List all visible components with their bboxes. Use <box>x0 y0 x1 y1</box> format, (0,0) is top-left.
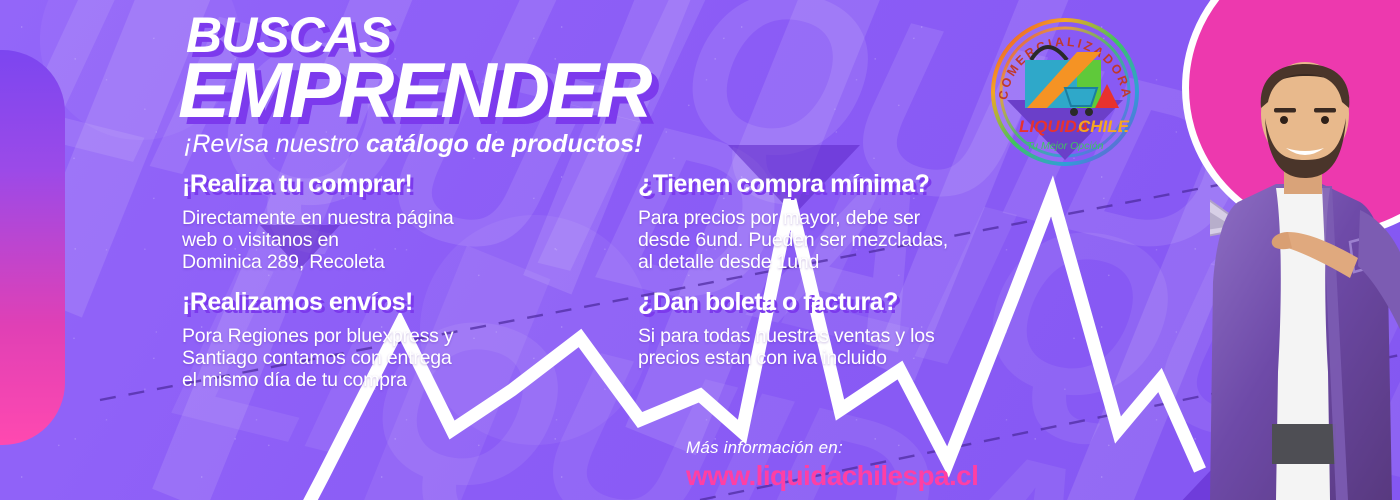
faq-item: ¡Realiza tu comprar! Directamente en nue… <box>182 170 454 273</box>
faq-answer-line: precios estan con iva incluido <box>638 348 935 370</box>
faq-item: ¿Tienen compra mínima? Para precios por … <box>638 170 948 273</box>
faq-answer-line: desde 6und. Pueden ser mezcladas, <box>638 230 948 252</box>
more-info-label: Más información en: <box>686 438 978 458</box>
faq-answer: Pora Regiones por bluexpress y Santiago … <box>182 326 454 391</box>
faq-answer: Si para todas nuestras ventas y los prec… <box>638 326 935 370</box>
faq-answer-line: Directamente en nuestra página <box>182 208 454 230</box>
faq-answer: Directamente en nuestra página web o vis… <box>182 208 454 273</box>
subheadline: ¡Revisa nuestro catálogo de productos! <box>184 130 642 159</box>
faq-answer-line: el mismo día de tu compra <box>182 370 454 392</box>
website-url-link[interactable]: www.liquidachilespa.cl <box>686 460 978 492</box>
subheadline-plain: ¡Revisa nuestro <box>184 130 366 158</box>
faq-question: ¡Realizamos envíos! <box>182 288 454 317</box>
footer-block: Más información en: www.liquidachilespa.… <box>686 438 978 492</box>
faq-question: ¡Realiza tu comprar! <box>182 170 454 199</box>
promo-banner: LIQUIDA LIQUIDA LIQUIDA LIQUIDA <box>0 0 1400 500</box>
faq-item: ¡Realizamos envíos! Pora Regiones por bl… <box>182 288 454 391</box>
faq-answer: Para precios por mayor, debe ser desde 6… <box>638 208 948 273</box>
faq-answer-line: web o visitanos en <box>182 230 454 252</box>
faq-item: ¿Dan boleta o factura? Si para todas nue… <box>638 288 935 370</box>
faq-answer-line: Santiago contamos con entrega <box>182 348 454 370</box>
faq-answer-line: Si para todas nuestras ventas y los <box>638 326 935 348</box>
subheadline-tail: s! <box>620 130 642 158</box>
banner-content: BUSCAS EMPRENDER ¡Revisa nuestro catálog… <box>0 0 1400 500</box>
faq-answer-line: Pora Regiones por bluexpress y <box>182 326 454 348</box>
faq-answer-line: al detalle desde 1und <box>638 252 948 274</box>
faq-answer-line: Para precios por mayor, debe ser <box>638 208 948 230</box>
faq-question: ¿Tienen compra mínima? <box>638 170 948 199</box>
subheadline-bold: catálogo de producto <box>366 130 620 158</box>
page-title: EMPRENDER <box>178 45 649 136</box>
faq-question: ¿Dan boleta o factura? <box>638 288 935 317</box>
faq-answer-line: Dominica 289, Recoleta <box>182 252 454 274</box>
